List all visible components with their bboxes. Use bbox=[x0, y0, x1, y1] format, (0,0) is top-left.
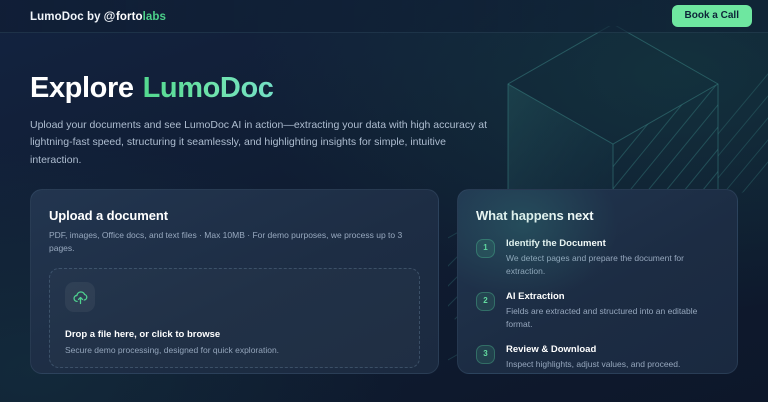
file-dropzone[interactable]: Drop a file here, or click to browse Sec… bbox=[49, 268, 420, 368]
app-header: LumoDoc by @ forto labs Book a Call bbox=[0, 0, 768, 33]
hero-subtitle: Upload your documents and see LumoDoc AI… bbox=[30, 117, 500, 169]
step-number-badge: 2 bbox=[476, 292, 495, 311]
step-description: Inspect highlights, adjust values, and p… bbox=[506, 358, 706, 371]
step-body: AI Extraction Fields are extracted and s… bbox=[506, 291, 719, 331]
next-card-title: What happens next bbox=[476, 208, 719, 223]
brand-labs-text: labs bbox=[143, 11, 166, 23]
dropzone-title: Drop a file here, or click to browse bbox=[65, 329, 404, 340]
step-title: AI Extraction bbox=[506, 291, 719, 302]
step-body: Review & Download Inspect highlights, ad… bbox=[506, 344, 719, 371]
page-title: Explore LumoDoc bbox=[30, 73, 768, 105]
list-item: 2 AI Extraction Fields are extracted and… bbox=[476, 291, 719, 331]
brand-lead-text: LumoDoc by bbox=[30, 11, 101, 23]
step-number-badge: 1 bbox=[476, 239, 495, 258]
list-item: 3 Review & Download Inspect highlights, … bbox=[476, 344, 719, 371]
upload-card-subtitle: PDF, images, Office docs, and text files… bbox=[49, 229, 420, 255]
cloud-upload-icon bbox=[65, 282, 95, 312]
what-happens-next-card: What happens next 1 Identify the Documen… bbox=[457, 189, 738, 374]
list-item: 1 Identify the Document We detect pages … bbox=[476, 238, 719, 278]
page-title-primary: Explore bbox=[30, 73, 134, 105]
step-title: Review & Download bbox=[506, 344, 719, 355]
step-body: Identify the Document We detect pages an… bbox=[506, 238, 719, 278]
steps-list: 1 Identify the Document We detect pages … bbox=[476, 238, 719, 371]
brand-forto-text: forto bbox=[116, 11, 143, 23]
book-a-call-button[interactable]: Book a Call bbox=[672, 5, 752, 27]
page-title-accent: LumoDoc bbox=[143, 73, 274, 105]
step-number-badge: 3 bbox=[476, 345, 495, 364]
upload-card-title: Upload a document bbox=[49, 208, 420, 223]
step-title: Identify the Document bbox=[506, 238, 719, 249]
step-description: Fields are extracted and structured into… bbox=[506, 305, 706, 331]
dropzone-subtitle: Secure demo processing, designed for qui… bbox=[65, 345, 404, 355]
step-description: We detect pages and prepare the document… bbox=[506, 252, 706, 278]
cards-row: Upload a document PDF, images, Office do… bbox=[0, 189, 768, 374]
upload-document-card: Upload a document PDF, images, Office do… bbox=[30, 189, 439, 374]
hero-section: Explore LumoDoc Upload your documents an… bbox=[0, 33, 768, 169]
at-symbol-icon: @ bbox=[104, 9, 116, 23]
brand-logo[interactable]: LumoDoc by @ forto labs bbox=[30, 9, 166, 23]
